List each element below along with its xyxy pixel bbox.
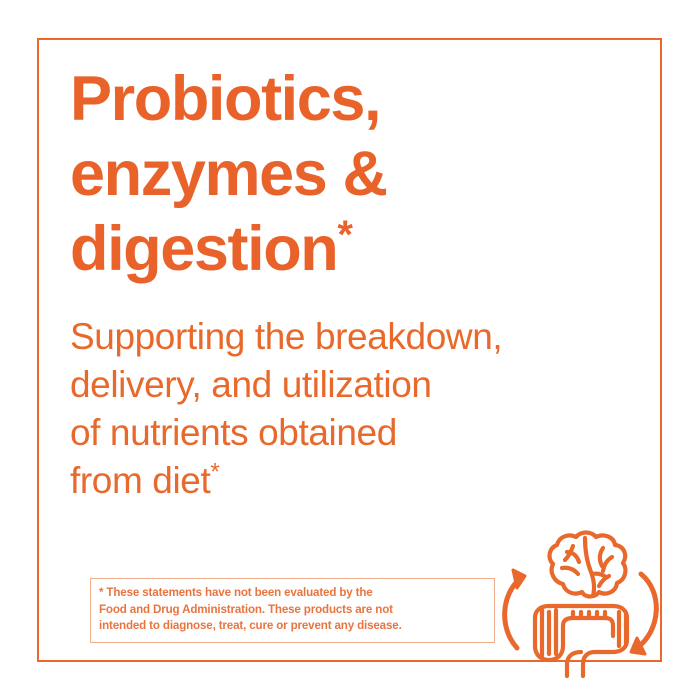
subtitle-line-3: of nutrients obtained (70, 409, 630, 457)
subtitle-line-4: from diet* (70, 457, 630, 505)
title-line-2: enzymes & (70, 137, 630, 212)
subtitle-asterisk: * (210, 459, 219, 486)
disclaimer-line-3: intended to diagnose, treat, cure or pre… (99, 618, 486, 635)
subtitle-line-1: Supporting the breakdown, (70, 313, 630, 361)
disclaimer-line-1: * These statements have not been evaluat… (99, 585, 486, 602)
title-asterisk: * (337, 213, 353, 257)
title-line-3: digestion* (70, 212, 630, 287)
subtitle-line-4-text: from diet (70, 460, 210, 501)
fda-disclaimer: * These statements have not been evaluat… (90, 578, 495, 643)
intestine-icon (535, 606, 627, 676)
gut-brain-axis-icon (495, 522, 675, 682)
page-title: Probiotics,enzymes &digestion* (70, 62, 630, 287)
subtitle-line-2: delivery, and utilization (70, 361, 630, 409)
title-line-3-text: digestion (70, 214, 337, 284)
arrow-down-right-icon (631, 574, 656, 654)
page-subtitle: Supporting the breakdown,delivery, and u… (70, 287, 630, 505)
card-content: Probiotics,enzymes &digestion* Supportin… (70, 62, 630, 642)
brain-icon (550, 533, 626, 597)
disclaimer-line-2: Food and Drug Administration. These prod… (99, 602, 486, 619)
arrow-up-left-icon (505, 570, 525, 648)
title-line-1: Probiotics, (70, 62, 630, 137)
promo-card: Probiotics,enzymes &digestion* Supportin… (0, 0, 700, 700)
